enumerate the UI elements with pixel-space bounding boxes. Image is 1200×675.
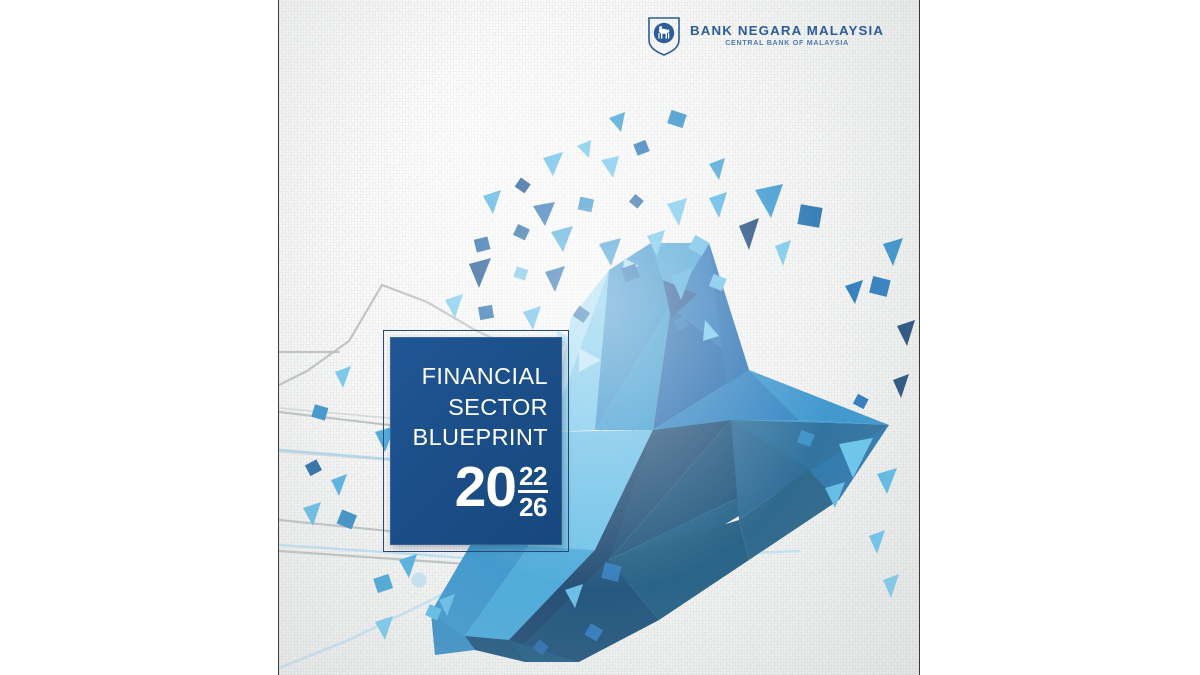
bank-negara-malaysia-logo: BANK NEGARA MALAYSIA CENTRAL BANK OF MAL… (647, 16, 884, 56)
letterbox-right (920, 0, 1200, 675)
year-start: 22 (519, 463, 547, 490)
bank-negara-shield-emblem (647, 16, 681, 56)
title-line-financial: FINANCIAL (422, 361, 548, 392)
title-line-sector: SECTOR (448, 392, 548, 423)
year-end: 26 (519, 494, 547, 521)
letterbox-left (0, 0, 278, 675)
financial-sector-blueprint-poster: BANK NEGARA MALAYSIA CENTRAL BANK OF MAL… (278, 0, 920, 675)
year-fraction: 22 26 (518, 463, 548, 521)
logo-wordmark: BANK NEGARA MALAYSIA CENTRAL BANK OF MAL… (690, 24, 884, 48)
year-century: 20 (455, 462, 516, 512)
logo-subtitle: CENTRAL BANK OF MALAYSIA (725, 40, 849, 48)
confetti-shards (279, 0, 920, 675)
year-range: 20 22 26 (455, 462, 548, 521)
poster-stage: BANK NEGARA MALAYSIA CENTRAL BANK OF MAL… (0, 0, 1200, 675)
title-card: FINANCIAL SECTOR BLUEPRINT 20 22 26 (390, 337, 562, 545)
title-line-blueprint: BLUEPRINT (413, 422, 549, 453)
logo-title: BANK NEGARA MALAYSIA (690, 24, 884, 38)
